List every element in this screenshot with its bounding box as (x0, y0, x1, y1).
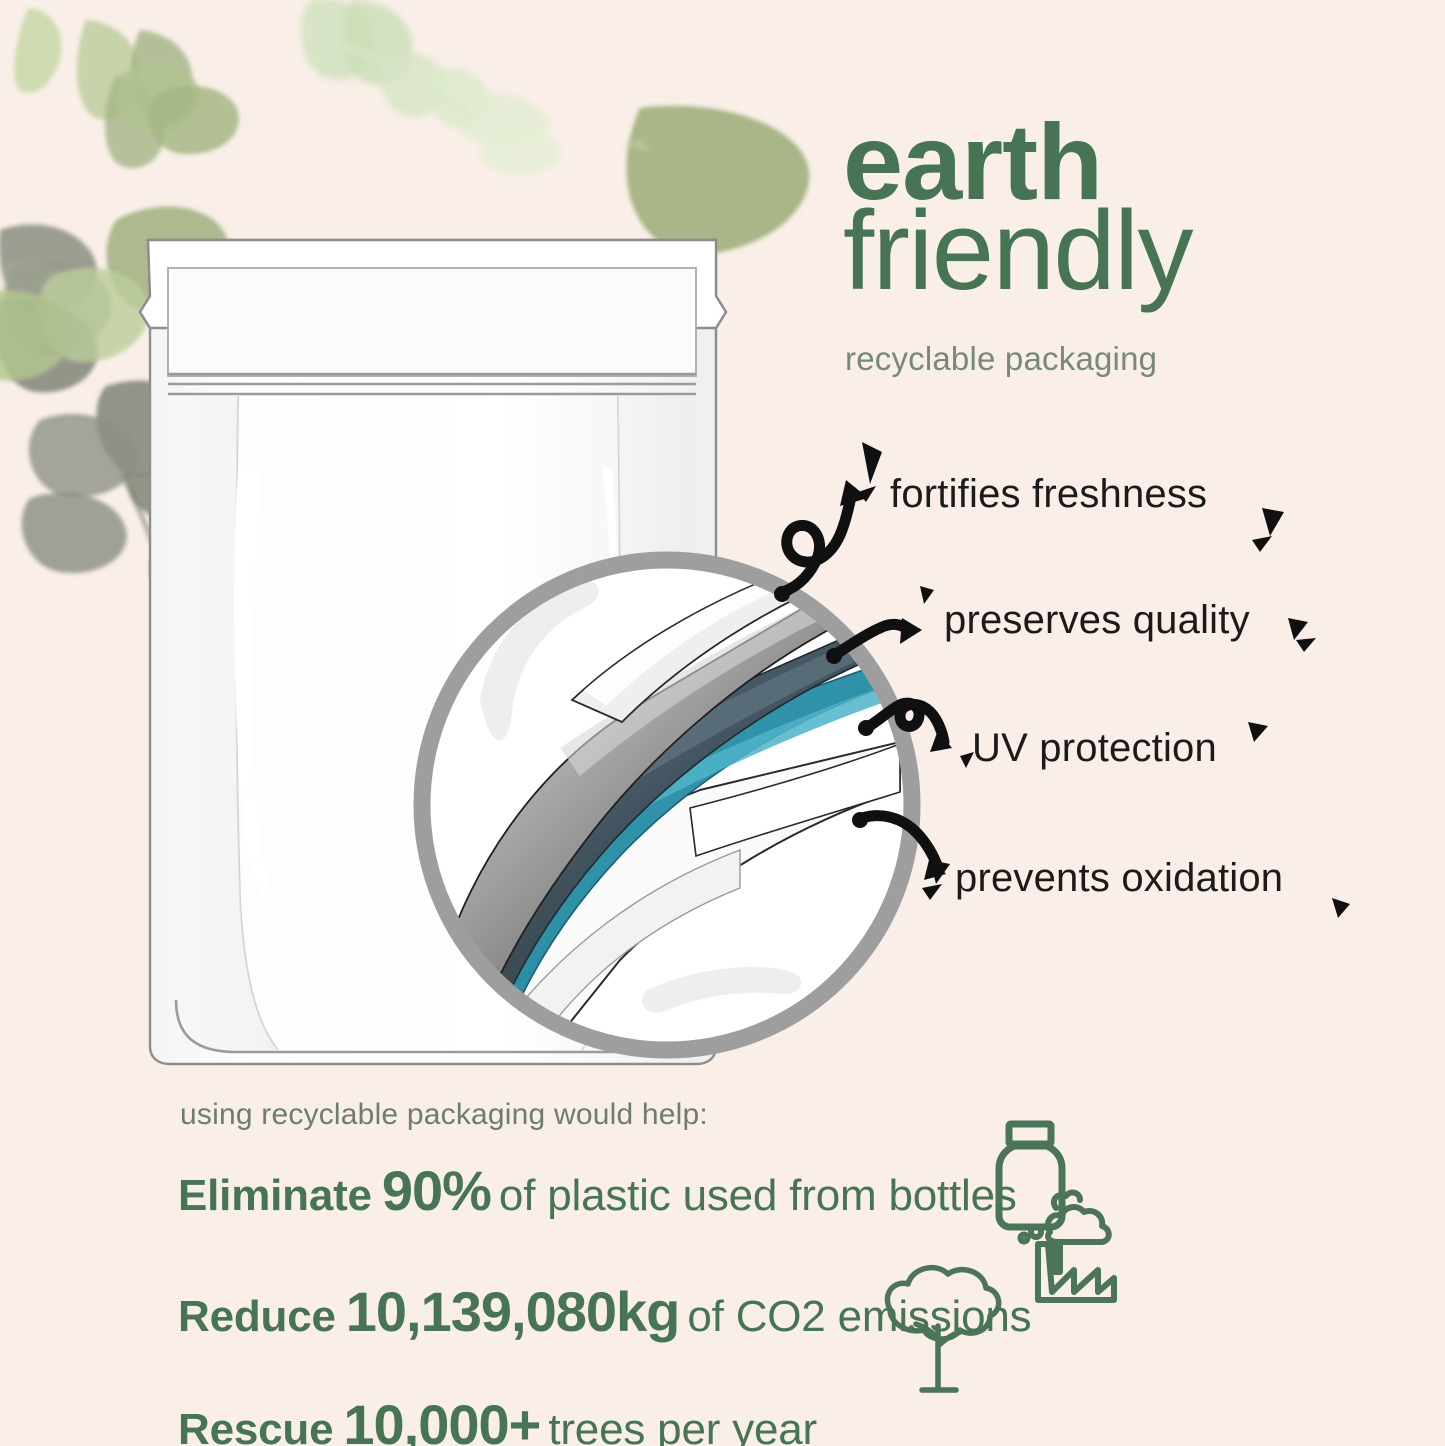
stat-verb: Eliminate (178, 1171, 372, 1220)
stat-row-eliminate: Eliminate90%of plastic used from bottles (178, 1158, 1238, 1223)
stats-lead-text: using recyclable packaging would help: (180, 1098, 1238, 1132)
stat-row-reduce: Reduce10,139,080kgof CO2 emissions (178, 1279, 1238, 1344)
stat-number: 90% (382, 1159, 491, 1222)
stat-rest: trees per year (548, 1405, 817, 1446)
stats-section: using recyclable packaging would help: E… (178, 1098, 1238, 1446)
stat-verb: Reduce (178, 1292, 336, 1341)
stat-number: 10,000+ (343, 1393, 540, 1446)
stat-rest: of CO2 emissions (687, 1292, 1031, 1341)
stat-number: 10,139,080kg (346, 1280, 680, 1343)
stat-verb: Rescue (178, 1405, 333, 1446)
stat-rest: of plastic used from bottles (499, 1171, 1017, 1220)
stat-row-rescue: Rescue10,000+trees per year (178, 1392, 1238, 1446)
infographic-canvas: earth friendly recyclable packaging fort… (0, 0, 1445, 1446)
